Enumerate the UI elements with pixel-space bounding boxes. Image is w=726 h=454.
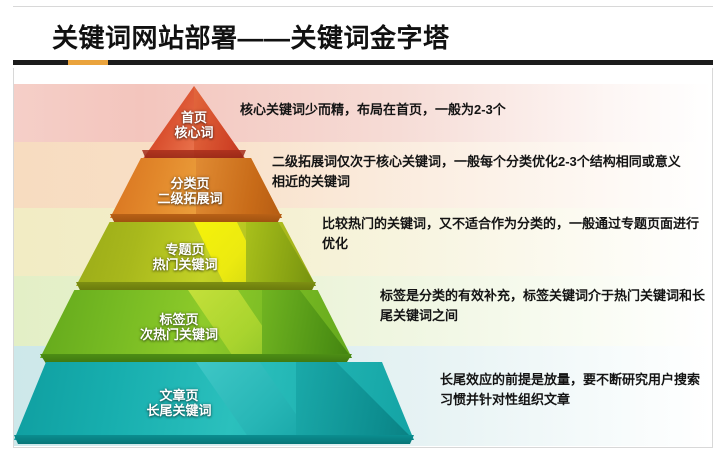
slide-canvas: 关键词网站部署——关键词金字塔 首页 核心词 分类页 二级拓展词 — [0, 0, 726, 454]
pyramid-tier-topic[interactable]: 专题页 热门关键词 — [76, 222, 316, 292]
title-underline — [13, 60, 713, 65]
page-title: 关键词网站部署——关键词金字塔 — [52, 18, 450, 55]
keyword-pyramid-diagram: 首页 核心词 分类页 二级拓展词 专题页 热门关键词 — [14, 84, 434, 446]
pyramid-tier-category[interactable]: 分类页 二级拓展词 — [110, 158, 282, 224]
tier-side-face — [194, 86, 246, 160]
pyramid-tier-homepage[interactable]: 首页 核心词 — [142, 86, 246, 160]
frame-right-border — [712, 68, 713, 448]
tier-description-article: 长尾效应的前提是放量，要不断研究用户搜索习惯并针对性组织文章 — [440, 370, 710, 410]
pyramid-tier-article[interactable]: 文章页 长尾关键词 — [14, 362, 414, 446]
tier-description-homepage: 核心关键词少而精，布局在首页，一般为2-3个 — [240, 100, 640, 120]
frame-top-border — [13, 6, 713, 7]
tier-description-topic: 比较热门的关键词，又不适合作为分类的，一般通过专题页面进行优化 — [322, 214, 704, 254]
tier-description-category: 二级拓展词仅次于核心关键词，一般每个分类优化2-3个结构相同或意义相近的关键词 — [272, 152, 692, 192]
tier-side-face — [196, 158, 282, 218]
slide-header: 关键词网站部署——关键词金字塔 — [0, 10, 726, 68]
frame-bottom-border — [13, 447, 713, 448]
tier-side-face — [246, 222, 316, 286]
pyramid-tier-tag[interactable]: 标签页 次热门关键词 — [40, 290, 352, 364]
tier-side-face — [262, 290, 352, 358]
tier-description-tag: 标签是分类的有效补充，标签关键词介于热门关键词和长尾关键词之间 — [380, 286, 710, 326]
title-underline-accent — [68, 60, 108, 65]
tier-bevel — [14, 435, 414, 444]
